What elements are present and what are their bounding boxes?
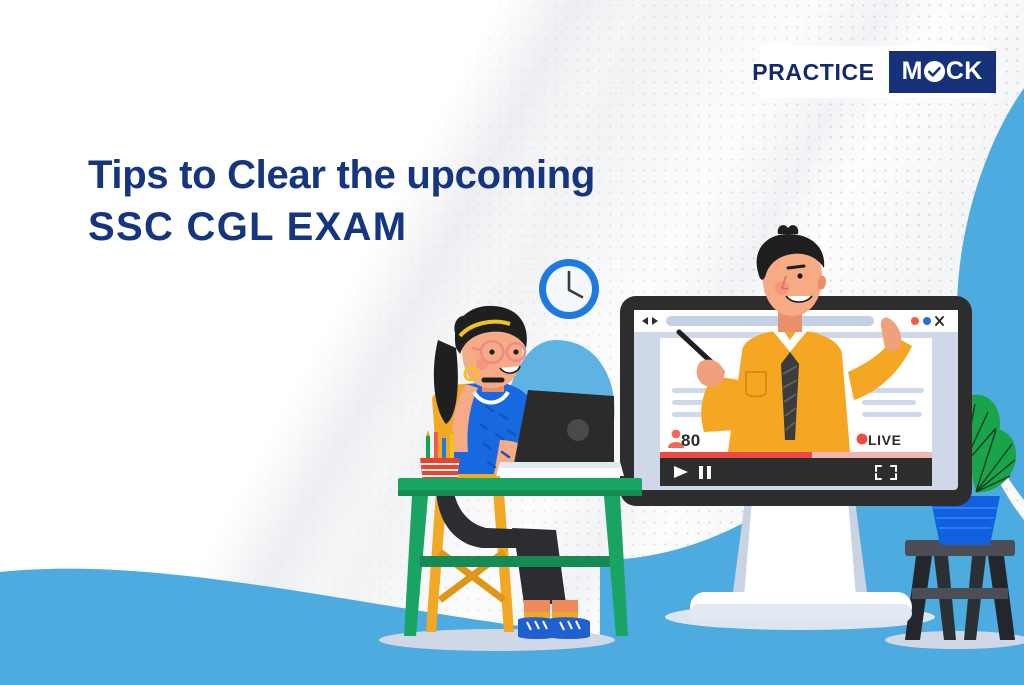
- browser-dot-red: [911, 317, 919, 325]
- teacher-brow: [788, 266, 804, 268]
- viewer-count-label: 80: [681, 431, 701, 451]
- student-shoe-right: [548, 617, 590, 639]
- laptop-screen: [512, 390, 614, 474]
- desk-brace: [420, 556, 610, 567]
- student-eye-left: [489, 349, 494, 354]
- student-cheek: [476, 358, 488, 370]
- desk-top: [398, 478, 642, 492]
- student-scene: [398, 306, 642, 639]
- browser-dot-blue: [923, 317, 931, 325]
- stool: [905, 540, 1015, 640]
- record-dot-icon: [857, 434, 868, 445]
- browser-address-bar: [666, 316, 874, 326]
- student-eye-right: [513, 349, 518, 354]
- monitor-neck: [744, 500, 856, 596]
- progress-fill: [660, 452, 812, 458]
- illustration: [0, 0, 1024, 685]
- clock-icon: [539, 259, 599, 319]
- monitor-base-shade: [690, 604, 912, 622]
- laptop-logo: [567, 419, 589, 441]
- poster-canvas: PRACTICE M CK Tips to Clear the upcoming…: [0, 0, 1024, 685]
- desk-top-edge: [398, 490, 642, 496]
- live-label: LIVE: [868, 432, 902, 448]
- teacher-eye: [797, 273, 802, 278]
